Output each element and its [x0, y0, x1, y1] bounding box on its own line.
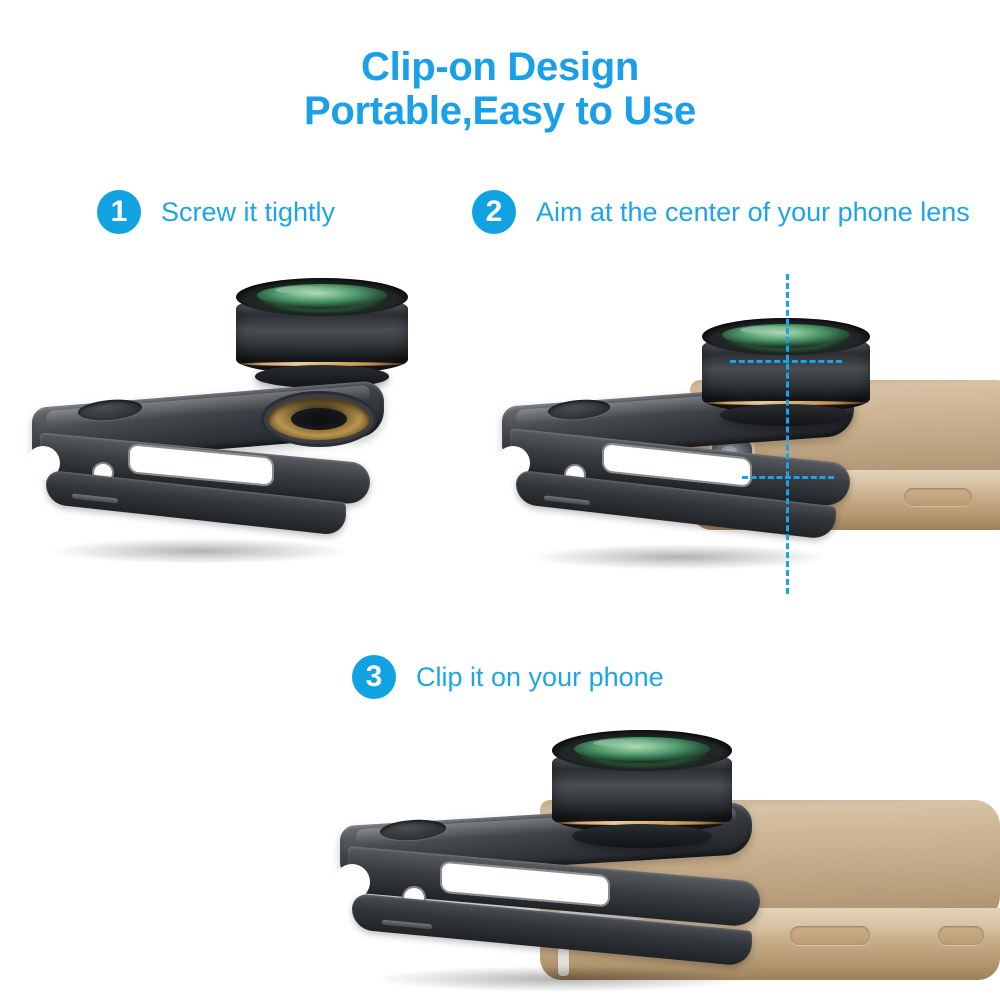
phone-clip-icon	[20, 388, 440, 558]
title-line-2: Portable,Easy to Use	[0, 89, 1000, 133]
lens-front-rim	[236, 278, 408, 316]
clip-contact-shadow	[530, 544, 830, 570]
step-1-header: 1 Screw it tightly	[97, 190, 335, 234]
page-title: Clip-on Design Portable,Easy to Use	[0, 45, 1000, 133]
title-line-1: Clip-on Design	[0, 45, 1000, 89]
step-3-header: 3 Clip it on your phone	[352, 655, 664, 699]
step-2-badge-icon: 2	[472, 190, 516, 234]
lens-glass-element	[257, 284, 388, 307]
lens-mount-base	[572, 824, 712, 848]
phone-volume-button	[938, 926, 984, 945]
step-1-illustration	[20, 270, 440, 570]
lens-front-rim	[552, 730, 732, 771]
step-1-badge-icon: 1	[97, 190, 141, 234]
step-3-label: Clip it on your phone	[416, 662, 664, 693]
step-2-header: 2 Aim at the center of your phone lens	[472, 190, 970, 234]
step-2-illustration	[490, 260, 1000, 580]
clip-contact-shadow	[370, 966, 750, 992]
step-1-label: Screw it tightly	[161, 197, 335, 228]
step-3-badge-icon: 3	[352, 655, 396, 699]
alignment-guide-camera-center	[742, 476, 834, 479]
clip-contact-shadow	[50, 538, 350, 564]
phone-side-button	[904, 488, 972, 506]
camera-lens-icon	[552, 730, 732, 850]
alignment-guide-vertical	[786, 274, 789, 594]
alignment-guide-lens-center	[730, 360, 842, 363]
step-3-illustration	[330, 720, 1000, 980]
lens-mount-socket	[268, 398, 370, 440]
lens-glass-element	[574, 737, 711, 761]
camera-lens-icon	[236, 278, 408, 390]
step-2-label: Aim at the center of your phone lens	[536, 197, 970, 228]
